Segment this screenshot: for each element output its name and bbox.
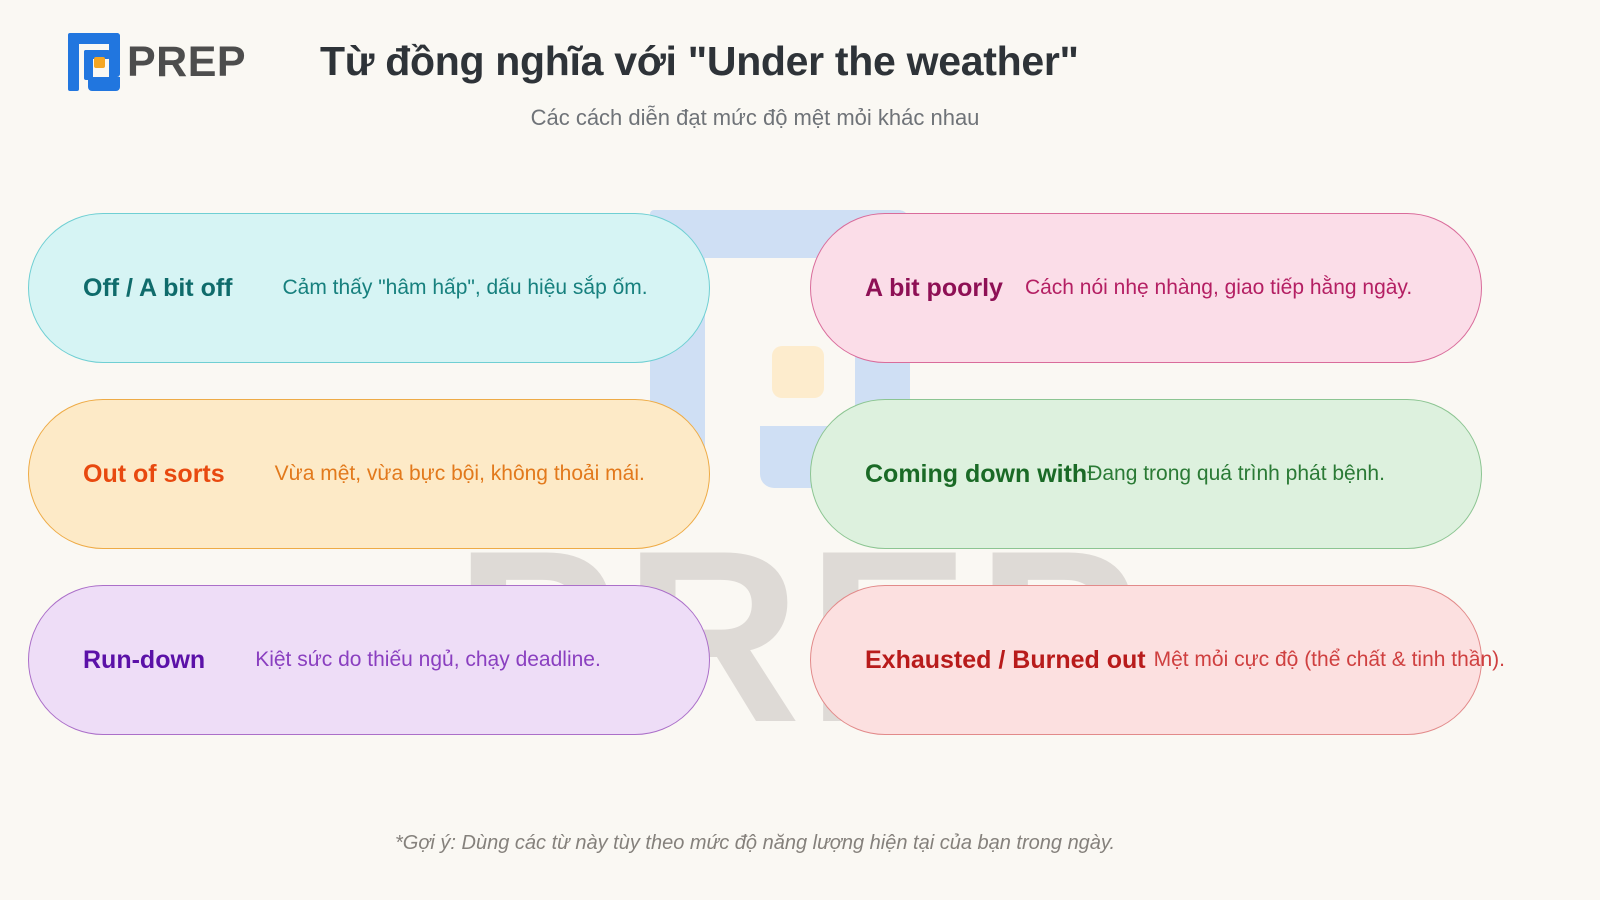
synonym-card-a-bit-poorly[interactable]: A bit poorly Cách nói nhẹ nhàng, giao ti… xyxy=(810,213,1482,363)
card-description: Cách nói nhẹ nhàng, giao tiếp hằng ngày. xyxy=(1025,276,1412,300)
card-term: Off / A bit off xyxy=(83,274,233,303)
card-description: Cảm thấy "hâm hấp", dấu hiệu sắp ốm. xyxy=(283,276,648,300)
synonym-card-exhausted-burned-out[interactable]: Exhausted / Burned out Mệt mỏi cực độ (t… xyxy=(810,585,1482,735)
card-description: Mệt mỏi cực độ (thể chất & tinh thần). xyxy=(1154,648,1505,672)
synonym-card-coming-down-with[interactable]: Coming down with Đang trong quá trình ph… xyxy=(810,399,1482,549)
card-description: Đang trong quá trình phát bệnh. xyxy=(1087,462,1385,486)
page-title: Từ đồng nghĩa với "Under the weather" xyxy=(320,38,1079,85)
card-term: A bit poorly xyxy=(865,274,1003,303)
card-term: Run-down xyxy=(83,646,205,675)
card-description: Kiệt sức do thiếu ngủ, chạy deadline. xyxy=(255,648,601,672)
brand-name: PREP xyxy=(127,38,246,87)
synonym-card-run-down[interactable]: Run-down Kiệt sức do thiếu ngủ, chạy dea… xyxy=(28,585,710,735)
synonym-card-out-of-sorts[interactable]: Out of sorts Vừa mệt, vừa bực bội, không… xyxy=(28,399,710,549)
logo-right-bar xyxy=(109,33,120,77)
card-term: Exhausted / Burned out xyxy=(865,646,1146,675)
footer-note: *Gợi ý: Dùng các từ này tùy theo mức độ … xyxy=(0,832,1510,855)
brand-logo: PREP xyxy=(68,33,246,91)
logo-accent-square-icon xyxy=(94,57,105,68)
watermark-logo-square-icon xyxy=(772,346,824,398)
page-subtitle: Các cách diễn đạt mức độ mệt mỏi khác nh… xyxy=(0,105,1510,131)
logo-mid-bar xyxy=(88,77,120,91)
synonym-card-off-a-bit-off[interactable]: Off / A bit off Cảm thấy "hâm hấp", dấu … xyxy=(28,213,710,363)
card-term: Out of sorts xyxy=(83,460,225,489)
card-description: Vừa mệt, vừa bực bội, không thoải mái. xyxy=(275,462,645,486)
card-term: Coming down with xyxy=(865,460,1087,489)
prep-p-logo-icon xyxy=(68,33,120,91)
